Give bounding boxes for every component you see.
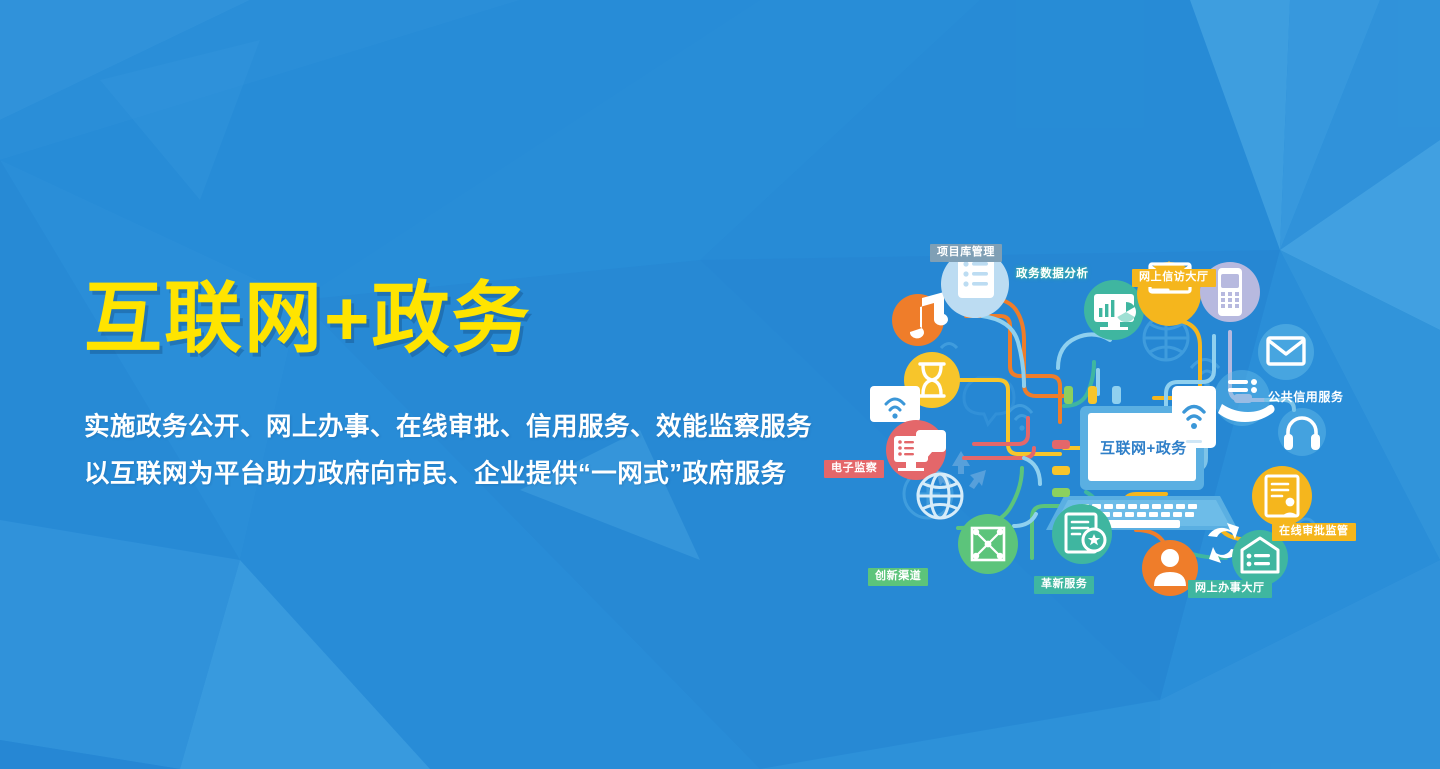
subtitle-line-2: 以互联网为平台助力政府向市民、企业提供“一网式”政府服务 bbox=[84, 451, 784, 497]
music-note-icon bbox=[892, 292, 948, 346]
hero-banner: 互联网+政务 实施政务公开、网上办事、在线审批、信用服务、效能监察服务 以互联网… bbox=[0, 0, 1440, 769]
label-online-approval-supervision[interactable]: 在线审批监管 bbox=[1272, 523, 1356, 541]
label-public-credit-service[interactable]: 公共信用服务 bbox=[1268, 391, 1344, 403]
chart-monitor-icon bbox=[1084, 280, 1144, 340]
network-illustration: .wire { fill:none; stroke-width:4; strok… bbox=[836, 228, 1416, 628]
label-innovation-channel[interactable]: 创新渠道 bbox=[868, 568, 928, 586]
subtitle-line-1: 实施政务公开、网上办事、在线审批、信用服务、效能监察服务 bbox=[84, 404, 784, 450]
monitor-chat-icon bbox=[886, 420, 946, 480]
hero-text-block: 互联网+政务 实施政务公开、网上办事、在线审批、信用服务、效能监察服务 以互联网… bbox=[84, 276, 784, 497]
label-online-petition-hall[interactable]: 网上信访大厅 bbox=[1132, 269, 1216, 287]
network-graph-icon bbox=[958, 514, 1018, 574]
certificate-icon bbox=[1052, 504, 1112, 564]
hand-credit-icon bbox=[1214, 370, 1275, 426]
approval-doc-icon bbox=[1252, 466, 1312, 526]
headphones-icon bbox=[1278, 408, 1326, 456]
wifi-tablet-icon bbox=[1172, 386, 1216, 448]
label-online-service-hall[interactable]: 网上办事大厅 bbox=[1188, 580, 1272, 598]
subtitle-group: 实施政务公开、网上办事、在线审批、信用服务、效能监察服务 以互联网为平台助力政府… bbox=[84, 404, 784, 497]
page-title: 互联网+政务 bbox=[84, 276, 784, 360]
label-electronic-supervision[interactable]: 电子监察 bbox=[824, 460, 884, 478]
label-innovation-service[interactable]: 革新服务 bbox=[1034, 576, 1094, 594]
envelope-icon bbox=[1258, 324, 1314, 380]
wifi-card-icon bbox=[870, 386, 920, 422]
label-project-library[interactable]: 项目库管理 bbox=[930, 244, 1002, 262]
laptop-screen-label: 互联网+政务 bbox=[1100, 441, 1187, 456]
label-govdata-analysis[interactable]: 政务数据分析 bbox=[1016, 269, 1089, 281]
